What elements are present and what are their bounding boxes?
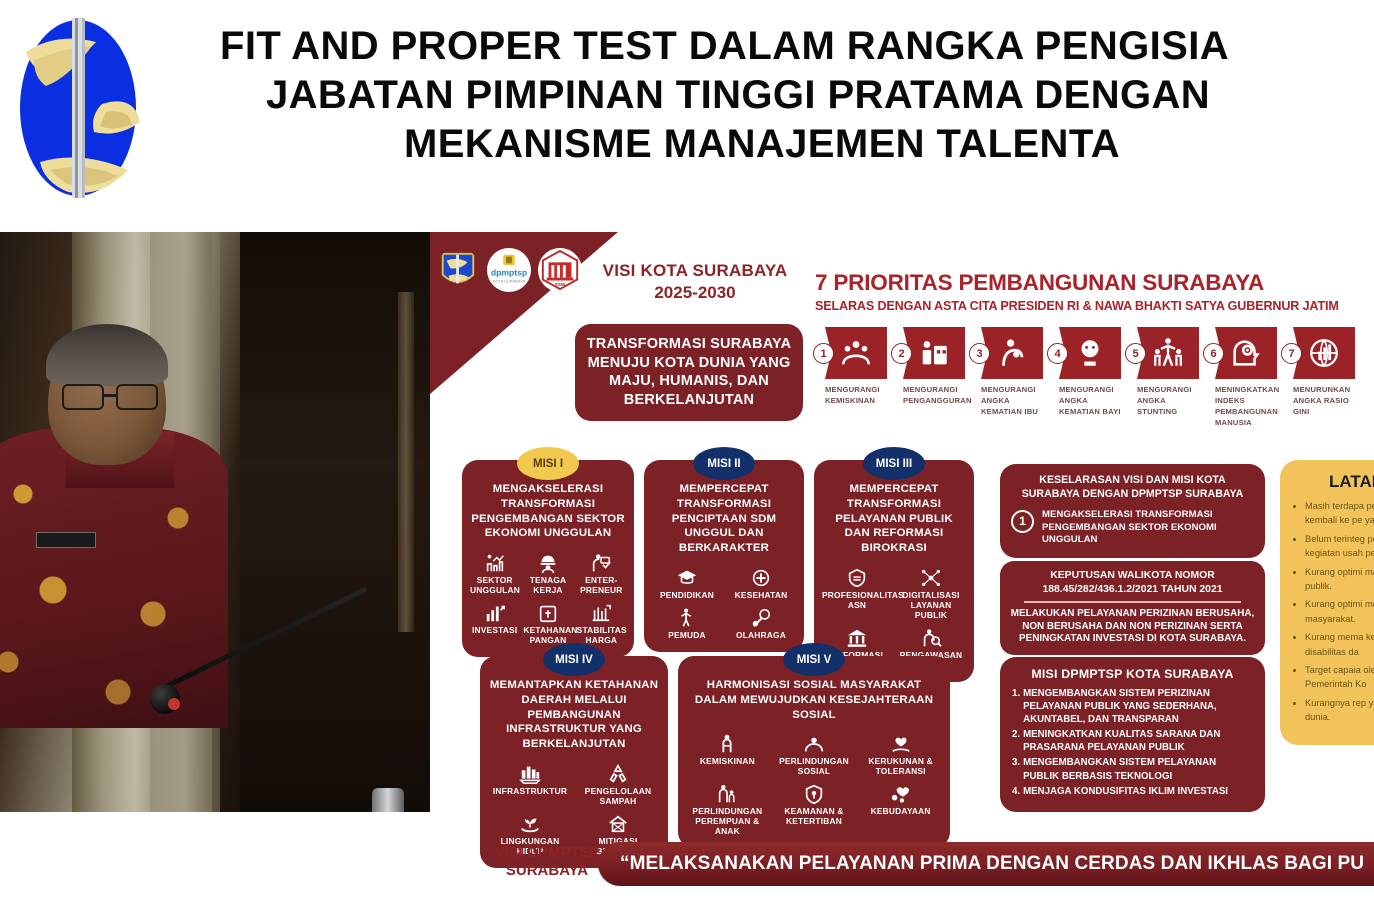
item-text: MENINGKATKAN KUALITAS SARANA DAN PRASARA…	[1023, 728, 1253, 754]
worker-icon	[537, 552, 559, 574]
misi-icon-item[interactable]: SEKTOR UNGGULAN	[468, 549, 521, 599]
latar-belakang-bullet: Kurang optimi masyarakat te publik.	[1305, 565, 1374, 594]
svg-text:KOTA SURABAYA: KOTA SURABAYA	[493, 278, 526, 283]
children-growth-icon	[1151, 336, 1185, 370]
misi-icon-item[interactable]: INFRASTRUKTUR	[486, 760, 574, 810]
priority-icon-holder	[1059, 327, 1121, 379]
misi-icon-grid-1: SEKTOR UNGGULANTENAGA KERJAENTER-PRENEUR…	[462, 547, 634, 657]
misi-icon-caption: KEAMANAN & KETERTIBAN	[773, 807, 856, 827]
priority-icon-holder	[903, 327, 965, 379]
disaster-mitigation-icon	[607, 813, 629, 835]
priority-number-7: 7	[1281, 343, 1302, 364]
misi-icon-caption: KERUKUNAN & TOLERANSI	[859, 757, 942, 777]
misi-icon-item[interactable]: KEMISKINAN	[684, 730, 771, 780]
infant-icon	[1073, 336, 1107, 370]
misi-icon-caption: PERLINDUNGAN SOSIAL	[773, 757, 856, 777]
water-bottle	[372, 788, 404, 812]
bottom-banner: VISI DPMPTSP SURABAYA “MELAKSANAKAN PELA…	[430, 838, 1374, 894]
misi-icon-caption: KEMISKINAN	[686, 757, 769, 767]
entrepreneur-icon	[590, 552, 612, 574]
item-text: MENGEMBANGKAN SISTEM PERIZINAN PELAYANAN…	[1023, 687, 1253, 726]
priorities-section: 7 PRIORITAS PEMBANGUNAN SURABAYA SELARAS…	[815, 270, 1374, 428]
misi-dpmptsp-list: 1.MENGEMBANGKAN SISTEM PERIZINAN PELAYAN…	[1012, 687, 1253, 798]
priority-icon-holder	[1215, 327, 1277, 379]
misi-icon-caption: KESEHATAN	[726, 591, 796, 601]
visi-quote-bar: “MELAKSANAKAN PELAYANAN PRIMA DENGAN CER…	[598, 842, 1374, 886]
chart-globe-icon	[1307, 336, 1341, 370]
keputusan-line2: 188.45/282/436.1.2/2021 TAHUN 2021	[1010, 583, 1255, 597]
misi-dpmptsp-item: 4.MENJAGA KONDUSIFITAS IKLIM INVESTASI	[1012, 785, 1253, 798]
investment-icon	[484, 602, 506, 624]
misi-card-2[interactable]: MISI IIMEMPERCEPAT TRANSFORMASI PENCIPTA…	[644, 460, 804, 652]
misi-icon-item[interactable]: PERLINDUNGAN PEREMPUAN & ANAK	[684, 780, 771, 840]
keselarasan-text: MENGAKSELERASI TRANSFORMASI PENGEMBANGAN…	[1042, 509, 1254, 548]
price-stability-icon	[590, 602, 612, 624]
keselarasan-card: KESELARASAN VISI DAN MISI KOTA SURABAYA …	[1000, 464, 1265, 558]
svg-text:SSW: SSW	[555, 282, 566, 288]
latar-belakang-bullet: Kurangnya rep yang ramah i dunia.	[1305, 696, 1374, 725]
priority-icon-holder	[1137, 327, 1199, 379]
dpmptsp-logo-icon: dpmptsp KOTA SURABAYA	[487, 248, 531, 292]
city-infrastructure-icon	[519, 763, 541, 785]
priority-label: MENURUNKAN ANGKA RASIO GINI	[1293, 384, 1361, 417]
priority-label: MENGURANGI KEMISKINAN	[825, 384, 893, 406]
misi-icon-caption: PERLINDUNGAN PEREMPUAN & ANAK	[686, 807, 769, 837]
misi-icon-caption: PENDIDIKAN	[652, 591, 722, 601]
latar-belakang-bullet: Masih terdapa perizinan dan kembali ke p…	[1305, 499, 1374, 528]
svg-text:dpmptsp: dpmptsp	[491, 268, 527, 278]
misi-icon-caption: SEKTOR UNGGULAN	[470, 576, 519, 596]
priority-item-5[interactable]: 5MENGURANGI ANGKA STUNTING	[1127, 327, 1205, 428]
priority-item-4[interactable]: 4MENGURANGI ANGKA KEMATIAN BAYI	[1049, 327, 1127, 428]
food-security-icon	[537, 602, 559, 624]
keselarasan-number: 1	[1011, 510, 1034, 533]
culture-icon	[890, 783, 912, 805]
family-hands-icon	[839, 336, 873, 370]
latar-belakang-list: Masih terdapa perizinan dan kembali ke p…	[1292, 499, 1374, 725]
divider	[1024, 601, 1241, 603]
visi-kota-heading: VISI KOTA SURABAYA 2025-2030	[580, 260, 810, 303]
visi-years: 2025-2030	[580, 283, 810, 303]
priorities-list: 1MENGURANGI KEMISKINAN2MENGURANGI PENGAN…	[815, 327, 1374, 428]
growth-chart-icon	[484, 552, 506, 574]
misi-icon-item[interactable]: KEAMANAN & KETERTIBAN	[771, 780, 858, 840]
misi-icon-item[interactable]: OLAHRAGA	[724, 604, 798, 644]
misi-tab-5: MISI V	[783, 643, 845, 676]
mother-baby-icon	[995, 336, 1029, 370]
asn-emblem-icon	[846, 567, 868, 589]
misi-dpmptsp-item: 1.MENGEMBANGKAN SISTEM PERIZINAN PELAYAN…	[1012, 687, 1253, 726]
priority-item-1[interactable]: 1MENGURANGI KEMISKINAN	[815, 327, 893, 428]
page-title-line1: FIT AND PROPER TEST DALAM RANGKA PENGISI…	[220, 22, 1374, 71]
digital-network-icon	[920, 567, 942, 589]
priority-number-6: 6	[1203, 343, 1224, 364]
item-text: MENJAGA KONDUSIFITAS IKLIM INVESTASI	[1023, 785, 1228, 798]
misi-icon-caption: PROFESIONALITAS ASN	[822, 591, 892, 611]
video-feed-panel[interactable]: Ir. LASIDI S.T., M.T.	[0, 232, 430, 812]
misi-icon-caption: ENTER-PRENEUR	[577, 576, 626, 596]
visi-statement-box: TRANSFORMASI SURABAYA MENUJU KOTA DUNIA …	[575, 324, 803, 421]
item-text: MENGEMBANGKAN SISTEM PELAYANAN PUBLIK BE…	[1023, 756, 1253, 782]
misi-icon-caption: TENAGA KERJA	[523, 576, 572, 596]
priority-icon-holder	[1293, 327, 1355, 379]
misi-icon-caption: KEBUDAYAAN	[859, 807, 942, 817]
misi-icon-caption: PENGELOLAAN SAMPAH	[576, 787, 660, 807]
priorities-title: 7 PRIORITAS PEMBANGUNAN SURABAYA	[815, 270, 1374, 296]
priority-item-3[interactable]: 3MENGURANGI ANGKA KEMATIAN IBU	[971, 327, 1049, 428]
misi-icon-item[interactable]: PENGELOLAAN SAMPAH	[574, 760, 662, 810]
latar-belakang-bullet: Kurang optimi menangani ko masyarakat.	[1305, 597, 1374, 626]
priority-number-4: 4	[1047, 343, 1068, 364]
misi-tab-2: MISI II	[693, 447, 755, 480]
sports-icon	[750, 607, 772, 629]
harmony-heart-icon	[890, 733, 912, 755]
speaker-glasses-icon	[62, 384, 168, 410]
item-number: 4.	[1012, 785, 1020, 798]
misi-card-5[interactable]: MISI VHARMONISASI SOSIAL MASYARAKAT DALA…	[678, 656, 950, 848]
misi-card-4[interactable]: MISI IVMEMANTAPKAN KETAHANAN DAERAH MELA…	[480, 656, 668, 868]
item-number: 3.	[1012, 756, 1020, 782]
head-gear-icon	[1229, 336, 1263, 370]
priority-label: MENGURANGI ANGKA KEMATIAN BAYI	[1059, 384, 1127, 417]
misi-icon-item[interactable]: PEMUDA	[650, 604, 724, 644]
misi-icon-item[interactable]: PENDIDIKAN	[650, 564, 724, 604]
presentation-screenshot: FIT AND PROPER TEST DALAM RANGKA PENGISI…	[0, 0, 1374, 916]
priority-label: MENINGKATKAN INDEKS PEMBANGUNAN MANUSIA	[1215, 384, 1283, 428]
health-icon	[750, 567, 772, 589]
misi-icon-item[interactable]: ENTER-PRENEUR	[575, 549, 628, 599]
misi-icon-item[interactable]: PROFESIONALITAS ASN	[820, 564, 894, 624]
misi-dpmptsp-item: 2.MENINGKATKAN KUALITAS SARANA DAN PRASA…	[1012, 728, 1253, 754]
recycle-icon	[607, 763, 629, 785]
social-protection-icon	[803, 733, 825, 755]
misi-icon-item[interactable]: TENAGA KERJA	[521, 549, 574, 599]
surabaya-city-emblem-icon	[6, 12, 156, 202]
latar-belakang-bullet: Belum terinteg perizinan, sist kegiatan …	[1305, 532, 1374, 561]
priority-item-7[interactable]: 7MENURUNKAN ANGKA RASIO GINI	[1283, 327, 1361, 428]
keputusan-line1: KEPUTUSAN WALIKOTA NOMOR	[1010, 569, 1255, 583]
priority-icon-holder	[825, 327, 887, 379]
graduation-cap-icon	[676, 567, 698, 589]
woman-child-icon	[716, 783, 738, 805]
government-building-icon	[846, 627, 868, 649]
misi-icon-caption: OLAHRAGA	[726, 631, 796, 641]
header-banner: FIT AND PROPER TEST DALAM RANGKA PENGISI…	[0, 0, 1374, 215]
misi-dpmptsp-item: 3.MENGEMBANGKAN SISTEM PELAYANAN PUBLIK …	[1012, 756, 1253, 782]
latar-belakang-bullet: Target capaia oleh Pemerint Pemerintah K…	[1305, 663, 1374, 692]
misi-icon-grid-5: KEMISKINANPERLINDUNGAN SOSIALKERUKUNAN &…	[678, 728, 950, 848]
misi-icon-caption: DIGITALISASI LAYANAN PUBLIK	[896, 591, 966, 621]
plant-hand-icon	[519, 813, 541, 835]
microphone-indicator	[168, 698, 180, 710]
ssw-building-logo-icon: SSW	[538, 248, 582, 292]
header-title-group: FIT AND PROPER TEST DALAM RANGKA PENGISI…	[180, 22, 1374, 168]
misi-icon-item[interactable]: STABILITAS HARGA	[575, 599, 628, 649]
priority-number-1: 1	[813, 343, 834, 364]
supervision-icon	[920, 627, 942, 649]
misi-tab-1: MISI I	[517, 447, 579, 480]
priority-icon-holder	[981, 327, 1043, 379]
item-number: 2.	[1012, 728, 1020, 754]
priority-label: MENGURANGI ANGKA KEMATIAN IBU	[981, 384, 1049, 417]
misi-icon-item[interactable]: INVESTASI	[468, 599, 521, 649]
misi-icon-item[interactable]: DIGITALISASI LAYANAN PUBLIK	[894, 564, 968, 624]
misi-card-1[interactable]: MISI IMENGAKSELERASI TRANSFORMASI PENGEM…	[462, 460, 634, 657]
priority-item-6[interactable]: 6MENINGKATKAN INDEKS PEMBANGUNAN MANUSIA	[1205, 327, 1283, 428]
misi-dpmptsp-title: MISI DPMPTSP KOTA SURABAYA	[1012, 667, 1253, 681]
poverty-person-icon	[716, 733, 738, 755]
misi-icon-item[interactable]: KERUKUNAN & TOLERANSI	[857, 730, 944, 780]
latar-belakang-card: LATAR B Masih terdapa perizinan dan kemb…	[1280, 460, 1374, 745]
misi-tab-4: MISI IV	[543, 643, 605, 676]
misi-icon-item[interactable]: KETAHANAN PANGAN	[521, 599, 574, 649]
keputusan-walikota-card: KEPUTUSAN WALIKOTA NOMOR 188.45/282/436.…	[1000, 561, 1265, 655]
priority-number-3: 3	[969, 343, 990, 364]
misi-icon-grid-2: PENDIDIKANKESEHATANPEMUDAOLAHRAGA	[644, 562, 804, 652]
priority-item-2[interactable]: 2MENGURANGI PENGANGGURAN	[893, 327, 971, 428]
surabaya-city-emblem-logo-icon	[436, 248, 480, 292]
misi-icon-item[interactable]: KEBUDAYAAN	[857, 780, 944, 840]
latar-belakang-title: LATAR B	[1292, 472, 1374, 492]
priority-label: MENGURANGI PENGANGGURAN	[903, 384, 971, 406]
keputusan-body: MELAKUKAN PELAYANAN PERIZINAN BERUSAHA, …	[1010, 608, 1255, 647]
misi-icon-caption: PEMUDA	[652, 631, 722, 641]
visi-title: VISI KOTA SURABAYA	[580, 260, 810, 282]
speaker-name-badge	[36, 532, 96, 548]
priorities-subtitle: SELARAS DENGAN ASTA CITA PRESIDEN RI & N…	[815, 299, 1374, 313]
slide-content[interactable]: dpmptsp KOTA SURABAYA SSW VISI KOTA SURA…	[430, 232, 1374, 916]
misi-icon-caption: INVESTASI	[470, 626, 519, 636]
youth-icon	[676, 607, 698, 629]
misi-icon-item[interactable]: KESEHATAN	[724, 564, 798, 604]
misi-icon-caption: INFRASTRUKTUR	[488, 787, 572, 797]
slide-logo-row: dpmptsp KOTA SURABAYA SSW	[436, 248, 582, 292]
priority-number-2: 2	[891, 343, 912, 364]
security-shield-icon	[803, 783, 825, 805]
latar-belakang-bullet: Kurang mema kenyamanan disabilitas da	[1305, 630, 1374, 659]
door-frame	[398, 292, 414, 632]
workers-icon	[917, 336, 951, 370]
page-title-line3: MEKANISME MANAJEMEN TALENTA	[404, 120, 1374, 169]
misi-tab-3: MISI III	[863, 447, 925, 480]
keselarasan-title: KESELARASAN VISI DAN MISI KOTA SURABAYA …	[1011, 473, 1254, 502]
misi-icon-item[interactable]: PERLINDUNGAN SOSIAL	[771, 730, 858, 780]
priority-number-5: 5	[1125, 343, 1146, 364]
item-number: 1.	[1012, 687, 1020, 726]
misi-dpmptsp-card: MISI DPMPTSP KOTA SURABAYA 1.MENGEMBANGK…	[1000, 657, 1265, 812]
priority-label: MENGURANGI ANGKA STUNTING	[1137, 384, 1205, 417]
page-title-line2: JABATAN PIMPINAN TINGGI PRATAMA DENGAN	[266, 71, 1374, 120]
